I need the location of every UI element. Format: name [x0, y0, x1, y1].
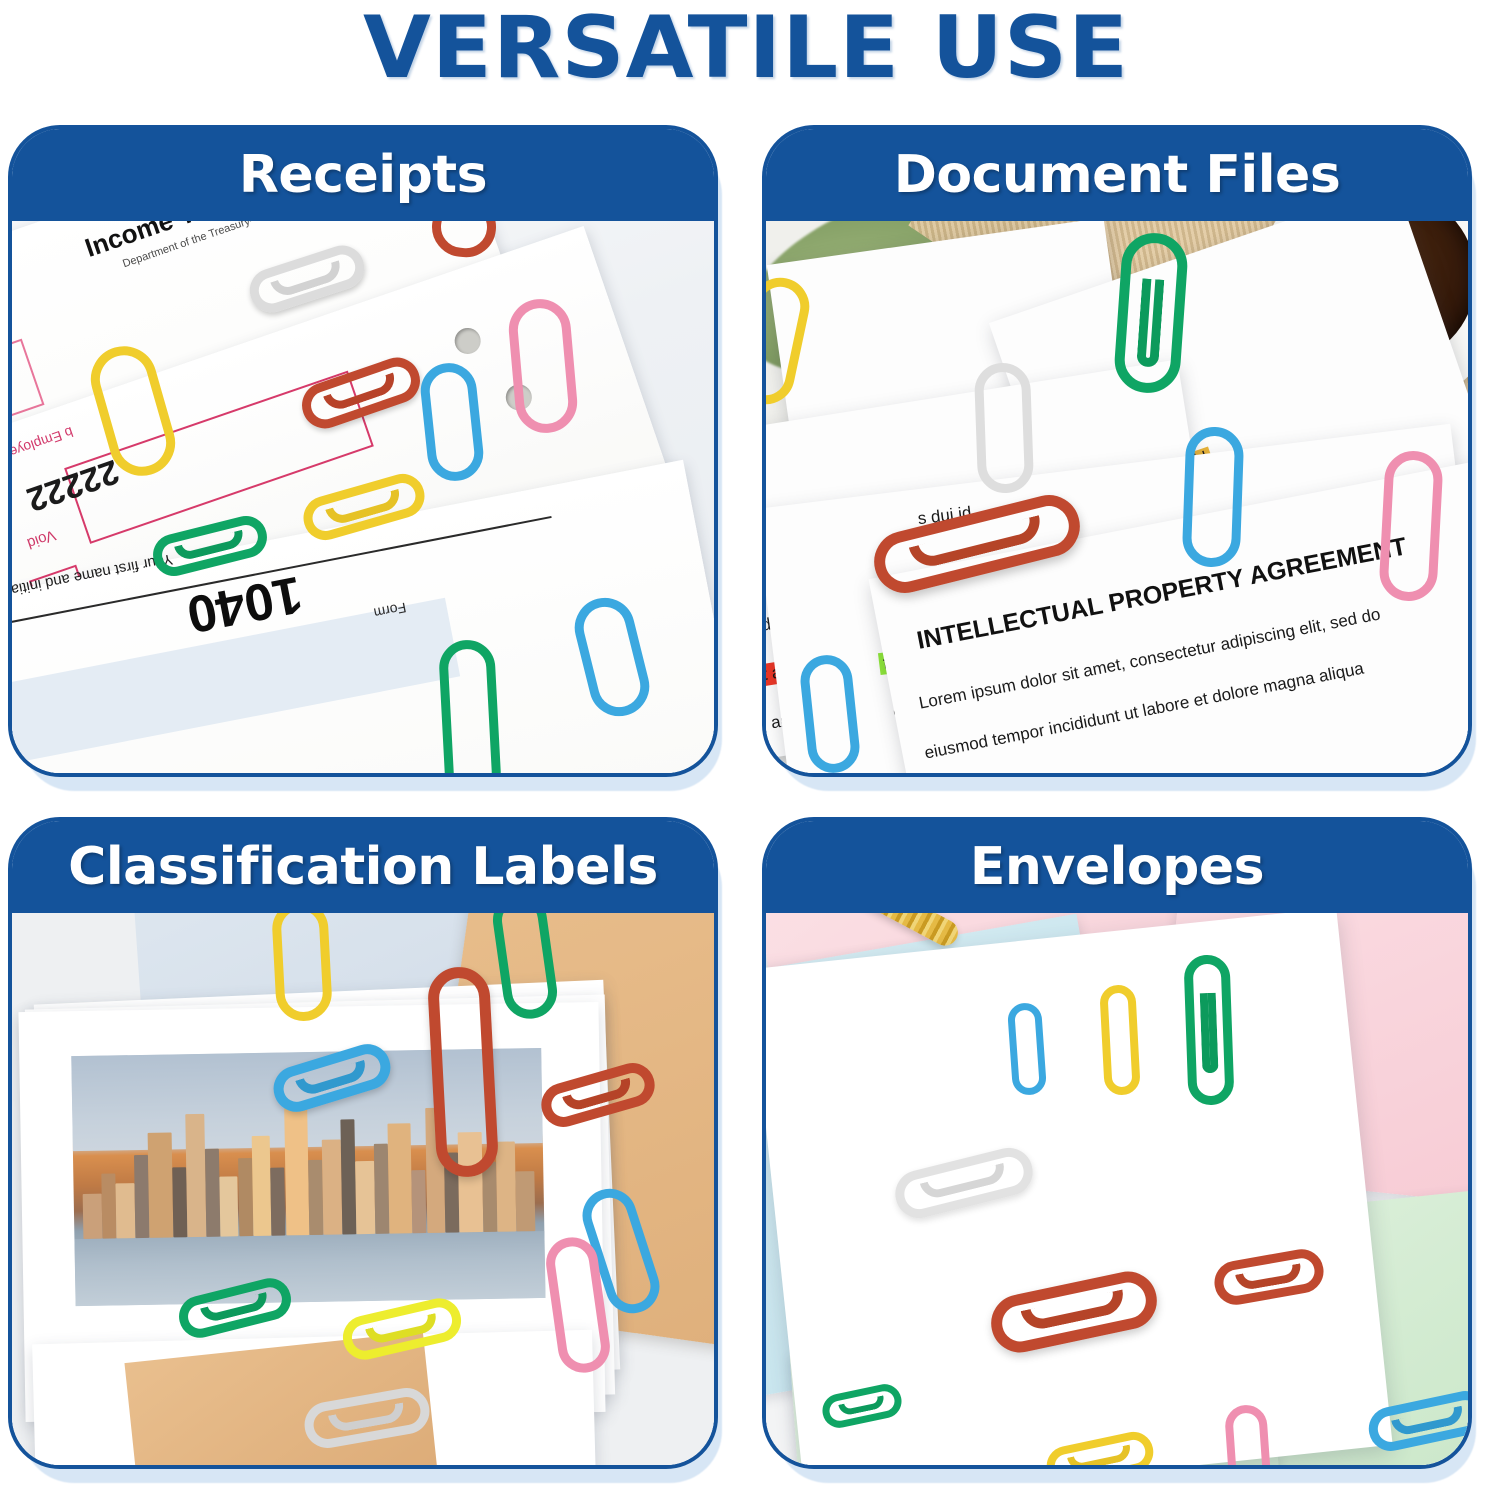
agreement-body-line-2: eiusmod tempor incididunt ut labore et d…: [923, 659, 1366, 764]
paperclip-green-top: [1183, 954, 1234, 1106]
paperclip-yellow-top: [1099, 984, 1141, 1096]
water: [74, 1230, 545, 1306]
paperclip-yellow-top: [271, 907, 333, 1022]
paperclip-red-long: [427, 966, 500, 1179]
paperclip-silver: [974, 362, 1035, 494]
void-label: Void: [25, 526, 58, 552]
building: [134, 1155, 150, 1238]
building: [340, 1119, 356, 1234]
photo-document-files: nile learning to be gs, improve your den…: [766, 215, 1468, 775]
building: [482, 1161, 497, 1231]
photo-envelopes: [766, 907, 1468, 1467]
building: [322, 1139, 342, 1234]
panel-document-files: Document Files nile learning to be gs, i…: [762, 125, 1484, 801]
panel-title-document-files: Document Files: [894, 147, 1341, 203]
panel-header-receipts: Receipts: [12, 129, 714, 221]
infographic-page: VERSATILE USE Receipts Income Tax Return…: [0, 0, 1492, 1500]
white-sheet: [766, 908, 1393, 1467]
panel-envelopes: Envelopes: [762, 817, 1484, 1493]
building: [238, 1158, 253, 1236]
panel-card: Receipts Income Tax Return for Departmen…: [8, 125, 718, 777]
building: [219, 1176, 239, 1236]
panel-header-classification-labels: Classification Labels: [12, 821, 714, 913]
building: [355, 1161, 375, 1234]
panel-title-classification-labels: Classification Labels: [68, 839, 658, 895]
building: [148, 1132, 173, 1237]
building: [83, 1193, 103, 1238]
panel-card: Document Files nile learning to be gs, i…: [762, 125, 1472, 777]
building: [284, 1102, 310, 1235]
paperclip-blue-long: [1182, 426, 1245, 568]
building: [204, 1149, 220, 1237]
panel-receipts: Receipts Income Tax Return for Departmen…: [8, 125, 730, 801]
building: [387, 1123, 412, 1233]
paperclip-green-long: [438, 639, 502, 775]
panel-title-envelopes: Envelopes: [970, 839, 1264, 895]
building: [308, 1159, 323, 1234]
panel-title-receipts: Receipts: [239, 147, 487, 203]
building: [515, 1171, 535, 1231]
paperclip-blue-small: [1007, 1002, 1047, 1096]
building: [271, 1167, 286, 1235]
panel-header-document-files: Document Files: [766, 129, 1468, 221]
panel-card: Classification Labels: [8, 817, 718, 1469]
panel-header-envelopes: Envelopes: [766, 821, 1468, 913]
panel-classification-labels: Classification Labels: [8, 817, 730, 1493]
building: [374, 1143, 390, 1233]
panel-card: Envelopes: [762, 817, 1472, 1469]
building: [185, 1114, 206, 1237]
panel-grid: Receipts Income Tax Return for Departmen…: [8, 125, 1484, 1493]
photo-receipts: Income Tax Return for Department of the …: [12, 215, 714, 775]
punch-hole: [451, 324, 484, 357]
paperclip-green-long: [1112, 231, 1189, 395]
building: [172, 1167, 187, 1237]
photo-classification-labels: Alice: [12, 907, 714, 1467]
paperclip-pink-long: [1378, 450, 1444, 603]
building: [116, 1183, 136, 1238]
building: [101, 1173, 116, 1238]
building: [412, 1170, 427, 1233]
building: [251, 1135, 272, 1235]
building: [496, 1141, 516, 1231]
page-title: VERSATILE USE: [0, 2, 1492, 94]
